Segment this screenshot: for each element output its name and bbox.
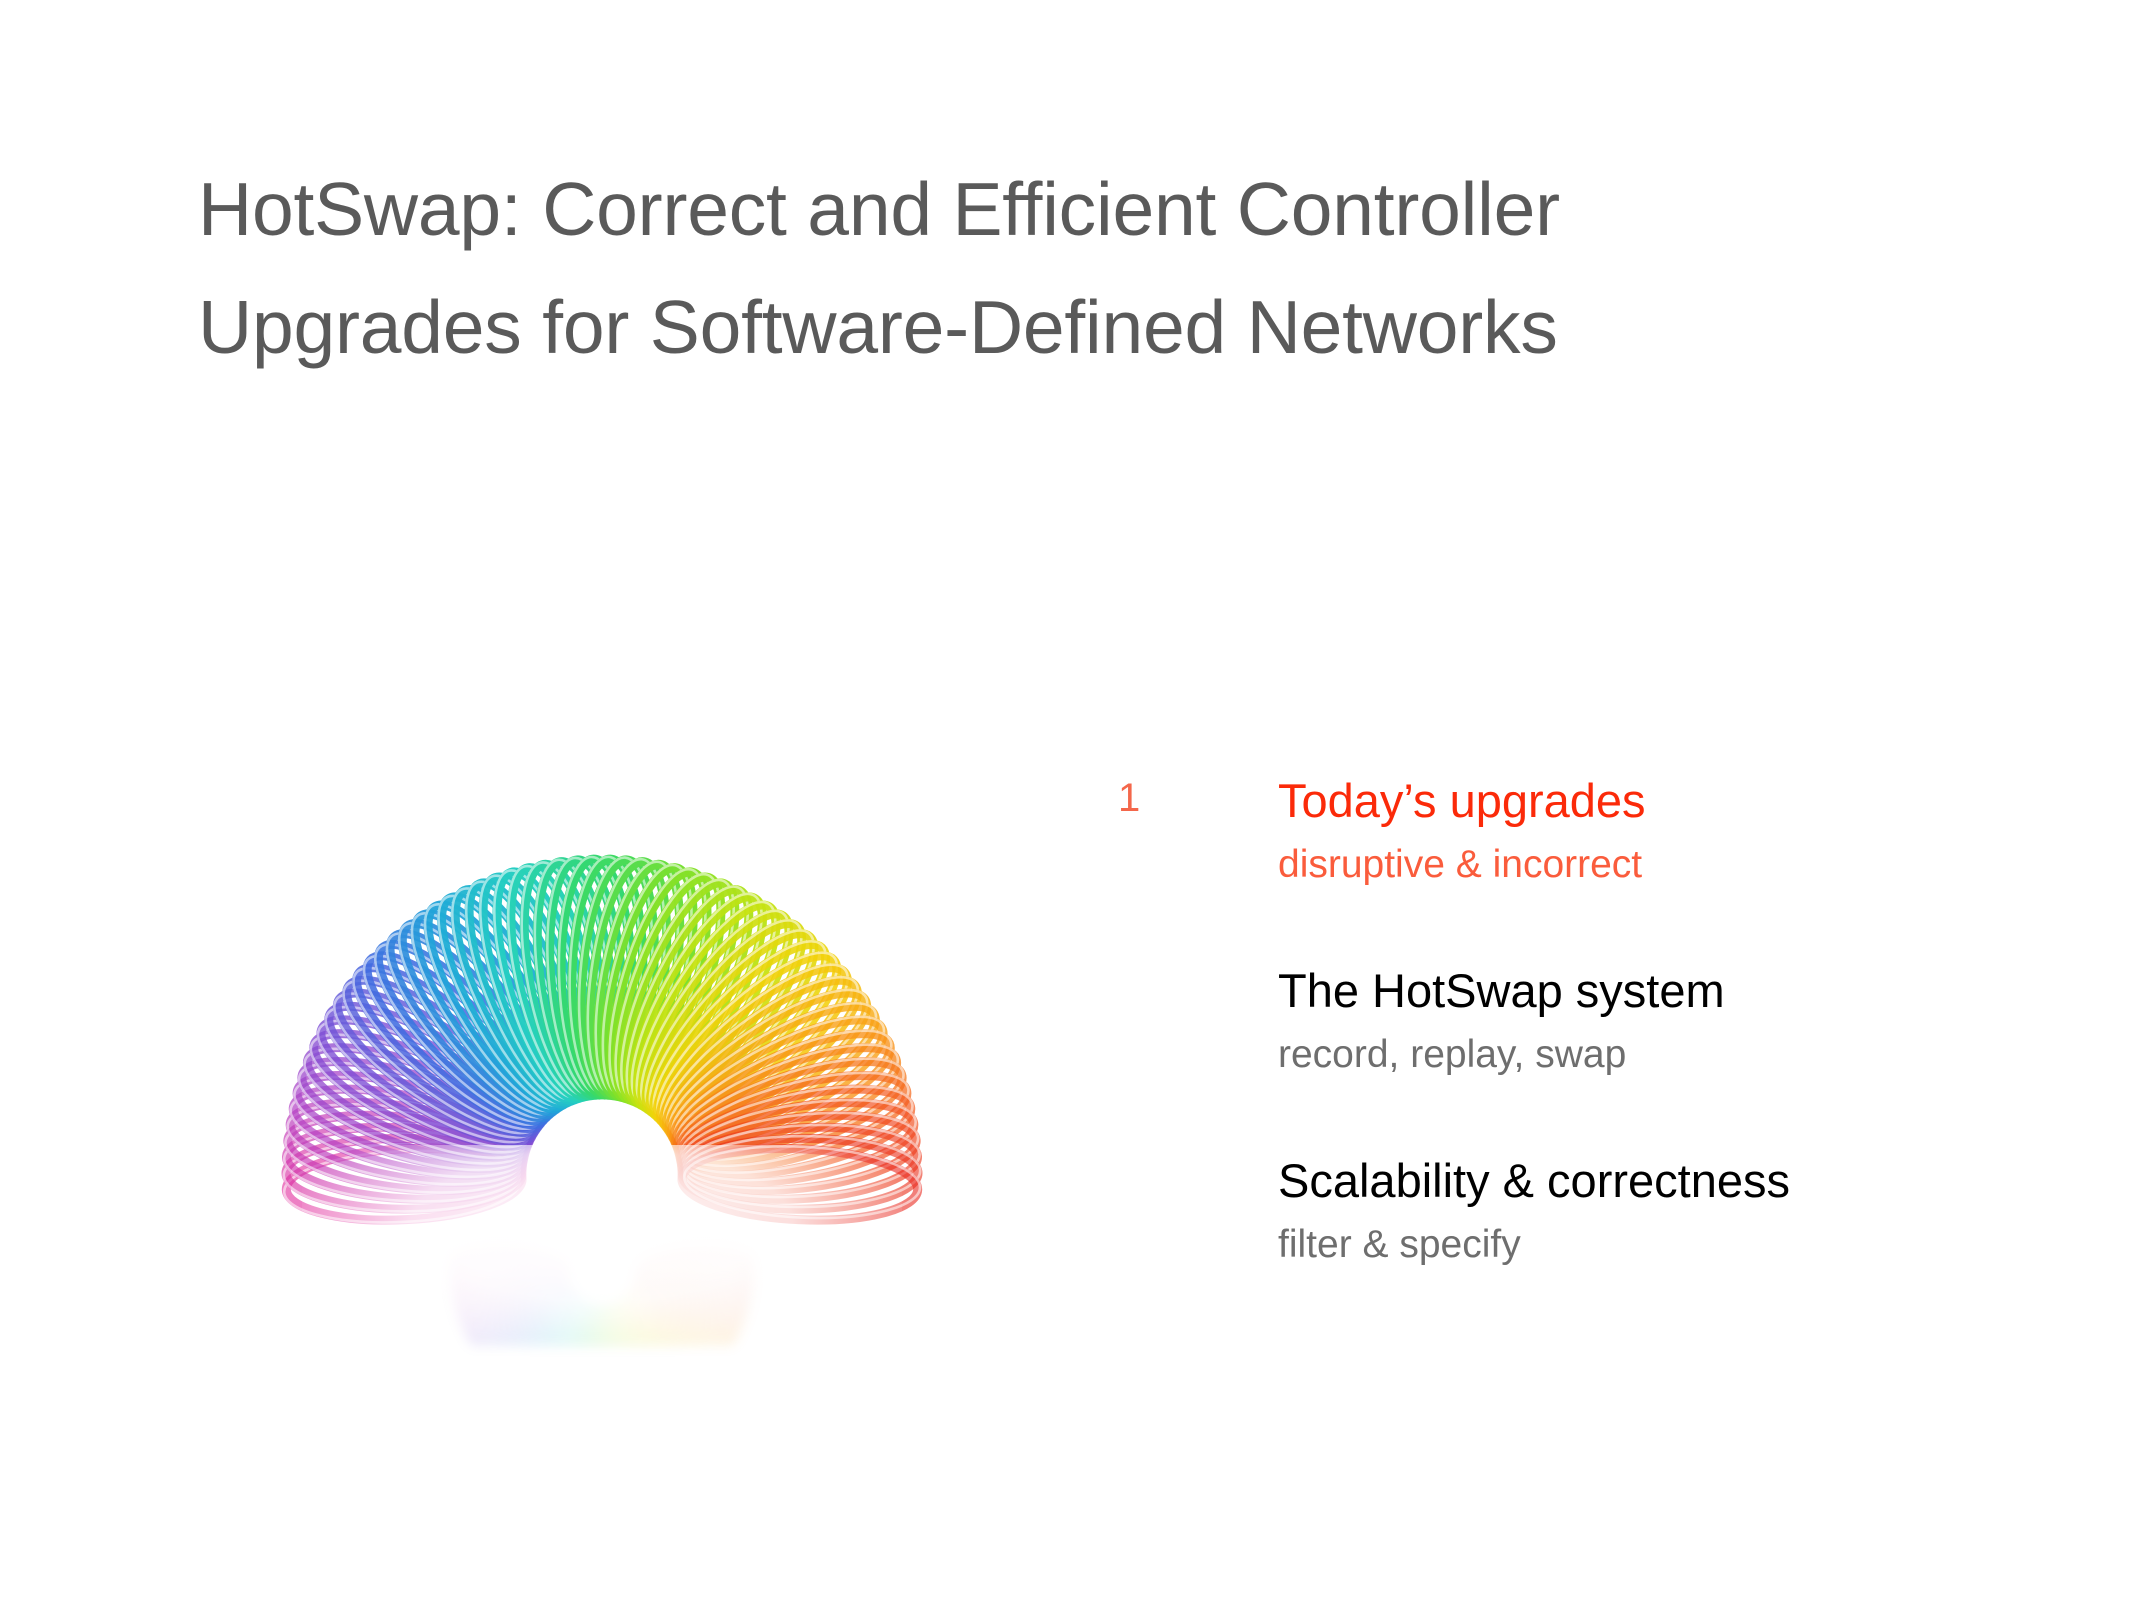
rainbow-slinky-illustration: [262, 845, 942, 1345]
agenda-item-1-heading[interactable]: Today’s upgrades: [1278, 770, 2018, 832]
agenda-list: 1 Today’s upgrades disruptive & incorrec…: [1118, 770, 2018, 1274]
agenda-item-3-subtitle: filter & specify: [1278, 1216, 2018, 1274]
agenda-item-2[interactable]: The HotSwap system record, replay, swap: [1118, 960, 2018, 1084]
title-line-2: Upgrades for Software-Defined Networks: [198, 268, 1798, 386]
slinky-coils: [262, 845, 942, 1345]
agenda-item-1-number: 1: [1118, 774, 1258, 822]
agenda-item-2-heading[interactable]: The HotSwap system: [1278, 960, 2018, 1022]
agenda-item-2-text: The HotSwap system record, replay, swap: [1278, 960, 2018, 1084]
agenda-item-1-text: Today’s upgrades disruptive & incorrect: [1278, 770, 2018, 894]
agenda-item-3-text: Scalability & correctness filter & speci…: [1278, 1150, 2018, 1274]
slide-canvas: HotSwap: Correct and Efficient Controlle…: [0, 0, 2134, 1600]
page-title: HotSwap: Correct and Efficient Controlle…: [198, 150, 1798, 386]
agenda-item-1[interactable]: 1 Today’s upgrades disruptive & incorrec…: [1118, 770, 2018, 894]
agenda-item-3-heading[interactable]: Scalability & correctness: [1278, 1150, 2018, 1212]
agenda-item-1-subtitle: disruptive & incorrect: [1278, 836, 2018, 894]
title-line-1: HotSwap: Correct and Efficient Controlle…: [198, 150, 1798, 268]
agenda-item-3[interactable]: Scalability & correctness filter & speci…: [1118, 1150, 2018, 1274]
agenda-item-2-subtitle: record, replay, swap: [1278, 1026, 2018, 1084]
